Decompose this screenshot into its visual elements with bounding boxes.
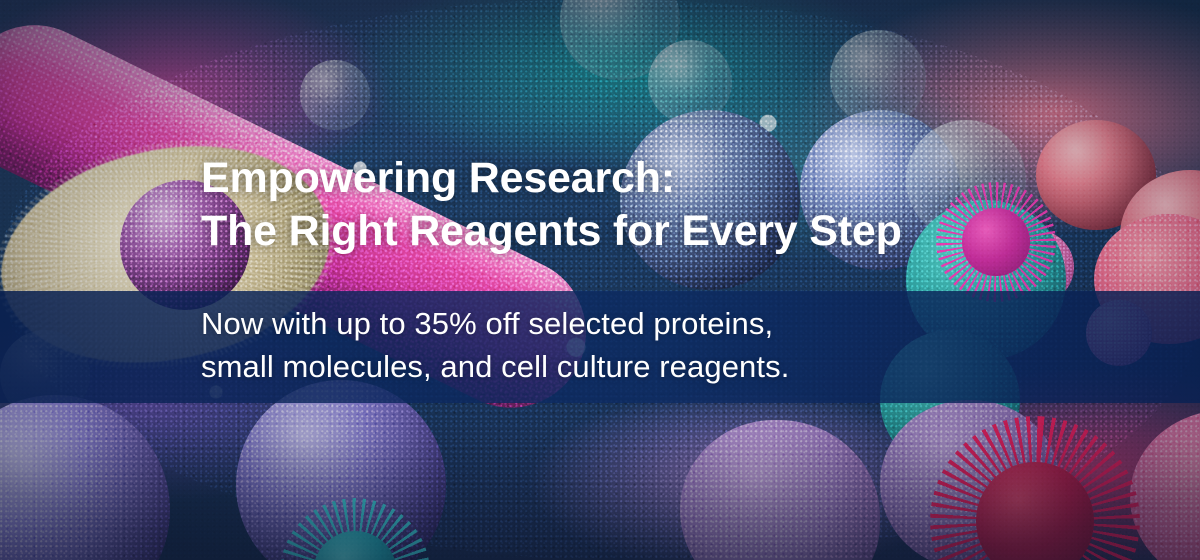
banner-subheadline: Now with up to 35% off selected proteins… (201, 302, 789, 388)
virus-core (962, 208, 1029, 275)
promo-banner[interactable]: Empowering Research: The Right Reagents … (0, 0, 1200, 560)
banner-headline: Empowering Research: The Right Reagents … (201, 152, 902, 258)
magenta-spiky-virus (936, 182, 1056, 302)
background-scene (0, 0, 1200, 560)
cyan-spiky-virus (280, 498, 430, 560)
crimson-spiky-virus (930, 416, 1140, 560)
